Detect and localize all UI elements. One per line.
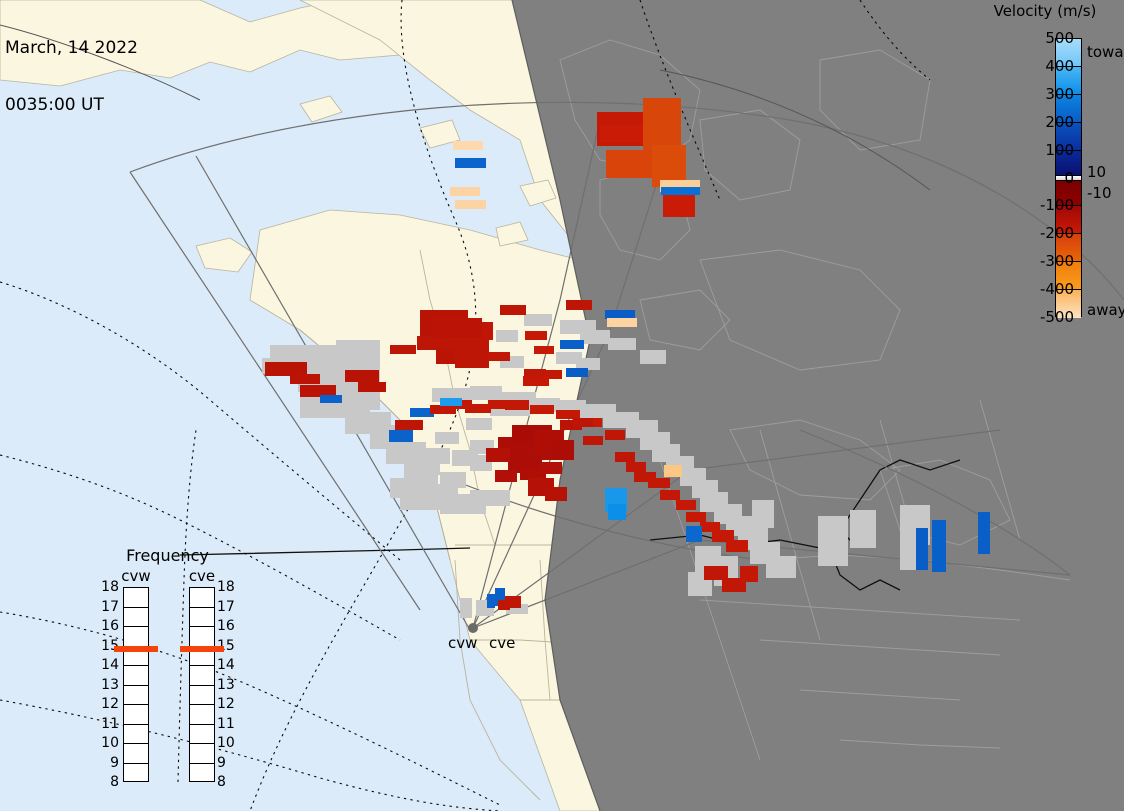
- frequency-tick-label: 17: [95, 599, 119, 615]
- colorbar-tick-label: -500: [1014, 308, 1074, 326]
- frequency-cell: [124, 666, 148, 686]
- frequency-cell: [190, 608, 214, 628]
- frequency-tick-label: 16: [217, 618, 241, 634]
- frequency-tick-label: 17: [217, 599, 241, 615]
- colorbar-title: Velocity (m/s): [975, 2, 1115, 20]
- frequency-tick-label: 18: [217, 579, 241, 595]
- frequency-tick-label: 11: [217, 716, 241, 732]
- frequency-tick-label: 8: [95, 774, 119, 790]
- frequency-tick-label: 12: [217, 696, 241, 712]
- frequency-title: Frequency: [95, 546, 240, 565]
- frequency-cell: [124, 744, 148, 764]
- colorbar-tick-label: 300: [1014, 85, 1074, 103]
- frequency-cell: [190, 764, 214, 784]
- frequency-tick-label: 14: [217, 657, 241, 673]
- timestamp: March, 14 2022 0035:00 UT: [5, 1, 138, 153]
- colorbar-tick-label: 100: [1014, 141, 1074, 159]
- frequency-cell: [124, 627, 148, 647]
- map-visualization: cvw cve March, 14 2022 0035:00 UT Veloci…: [0, 0, 1124, 811]
- colorbar-tick-label: 500: [1014, 29, 1074, 47]
- colorbar-center-high-label: 10: [1087, 163, 1106, 181]
- timestamp-date: March, 14 2022: [5, 39, 138, 58]
- frequency-cell: [124, 725, 148, 745]
- frequency-cell: [190, 588, 214, 608]
- frequency-bar-cvw: [123, 587, 149, 782]
- colorbar-tick-label: -100: [1014, 196, 1074, 214]
- frequency-cell: [124, 705, 148, 725]
- frequency-tick-label: 13: [95, 677, 119, 693]
- frequency-marker: [180, 646, 224, 652]
- colorbar-tick-label: -200: [1014, 224, 1074, 242]
- frequency-tick-label: 10: [217, 735, 241, 751]
- frequency-cell: [190, 744, 214, 764]
- frequency-marker: [114, 646, 158, 652]
- frequency-tick-label: 12: [95, 696, 119, 712]
- frequency-cell: [190, 725, 214, 745]
- frequency-tick-label: 13: [217, 677, 241, 693]
- frequency-cell: [124, 588, 148, 608]
- colorbar-tick-label: 200: [1014, 113, 1074, 131]
- frequency-tick-label: 18: [95, 579, 119, 595]
- colorbar-tick-label: 400: [1014, 57, 1074, 75]
- radar-label-cve: cve: [489, 634, 515, 652]
- frequency-cell: [190, 666, 214, 686]
- colorbar-tick-label: -400: [1014, 280, 1074, 298]
- frequency-tick-label: 9: [217, 755, 241, 771]
- frequency-tick-label: 11: [95, 716, 119, 732]
- frequency-tick-label: 14: [95, 657, 119, 673]
- timestamp-time: 0035:00 UT: [5, 96, 138, 115]
- velocity-colorbar: Velocity (m/s) 5004003002001000-100-200-…: [975, 0, 1124, 340]
- frequency-cell: [124, 608, 148, 628]
- radar-site-marker: [468, 623, 478, 633]
- frequency-column-label-cvw: cvw: [113, 567, 159, 585]
- colorbar-center-low-label: -10: [1087, 184, 1112, 202]
- colorbar-tick-label: -300: [1014, 252, 1074, 270]
- frequency-tick-label: 9: [95, 755, 119, 771]
- radar-label-cvw: cvw: [448, 634, 477, 652]
- frequency-tick-label: 10: [95, 735, 119, 751]
- colorbar-toward-label: toward: [1087, 43, 1124, 61]
- frequency-cell: [190, 627, 214, 647]
- frequency-tick-label: 16: [95, 618, 119, 634]
- frequency-cell: [190, 686, 214, 706]
- frequency-tick-label: 8: [217, 774, 241, 790]
- colorbar-tick-label: 0: [1014, 169, 1074, 187]
- colorbar-away-label: away: [1087, 301, 1124, 319]
- frequency-bar-cve: [189, 587, 215, 782]
- frequency-cell: [124, 686, 148, 706]
- frequency-legend: Frequency cvw cve 18171615141312111098 1…: [95, 546, 240, 791]
- frequency-cell: [124, 764, 148, 784]
- frequency-cell: [190, 705, 214, 725]
